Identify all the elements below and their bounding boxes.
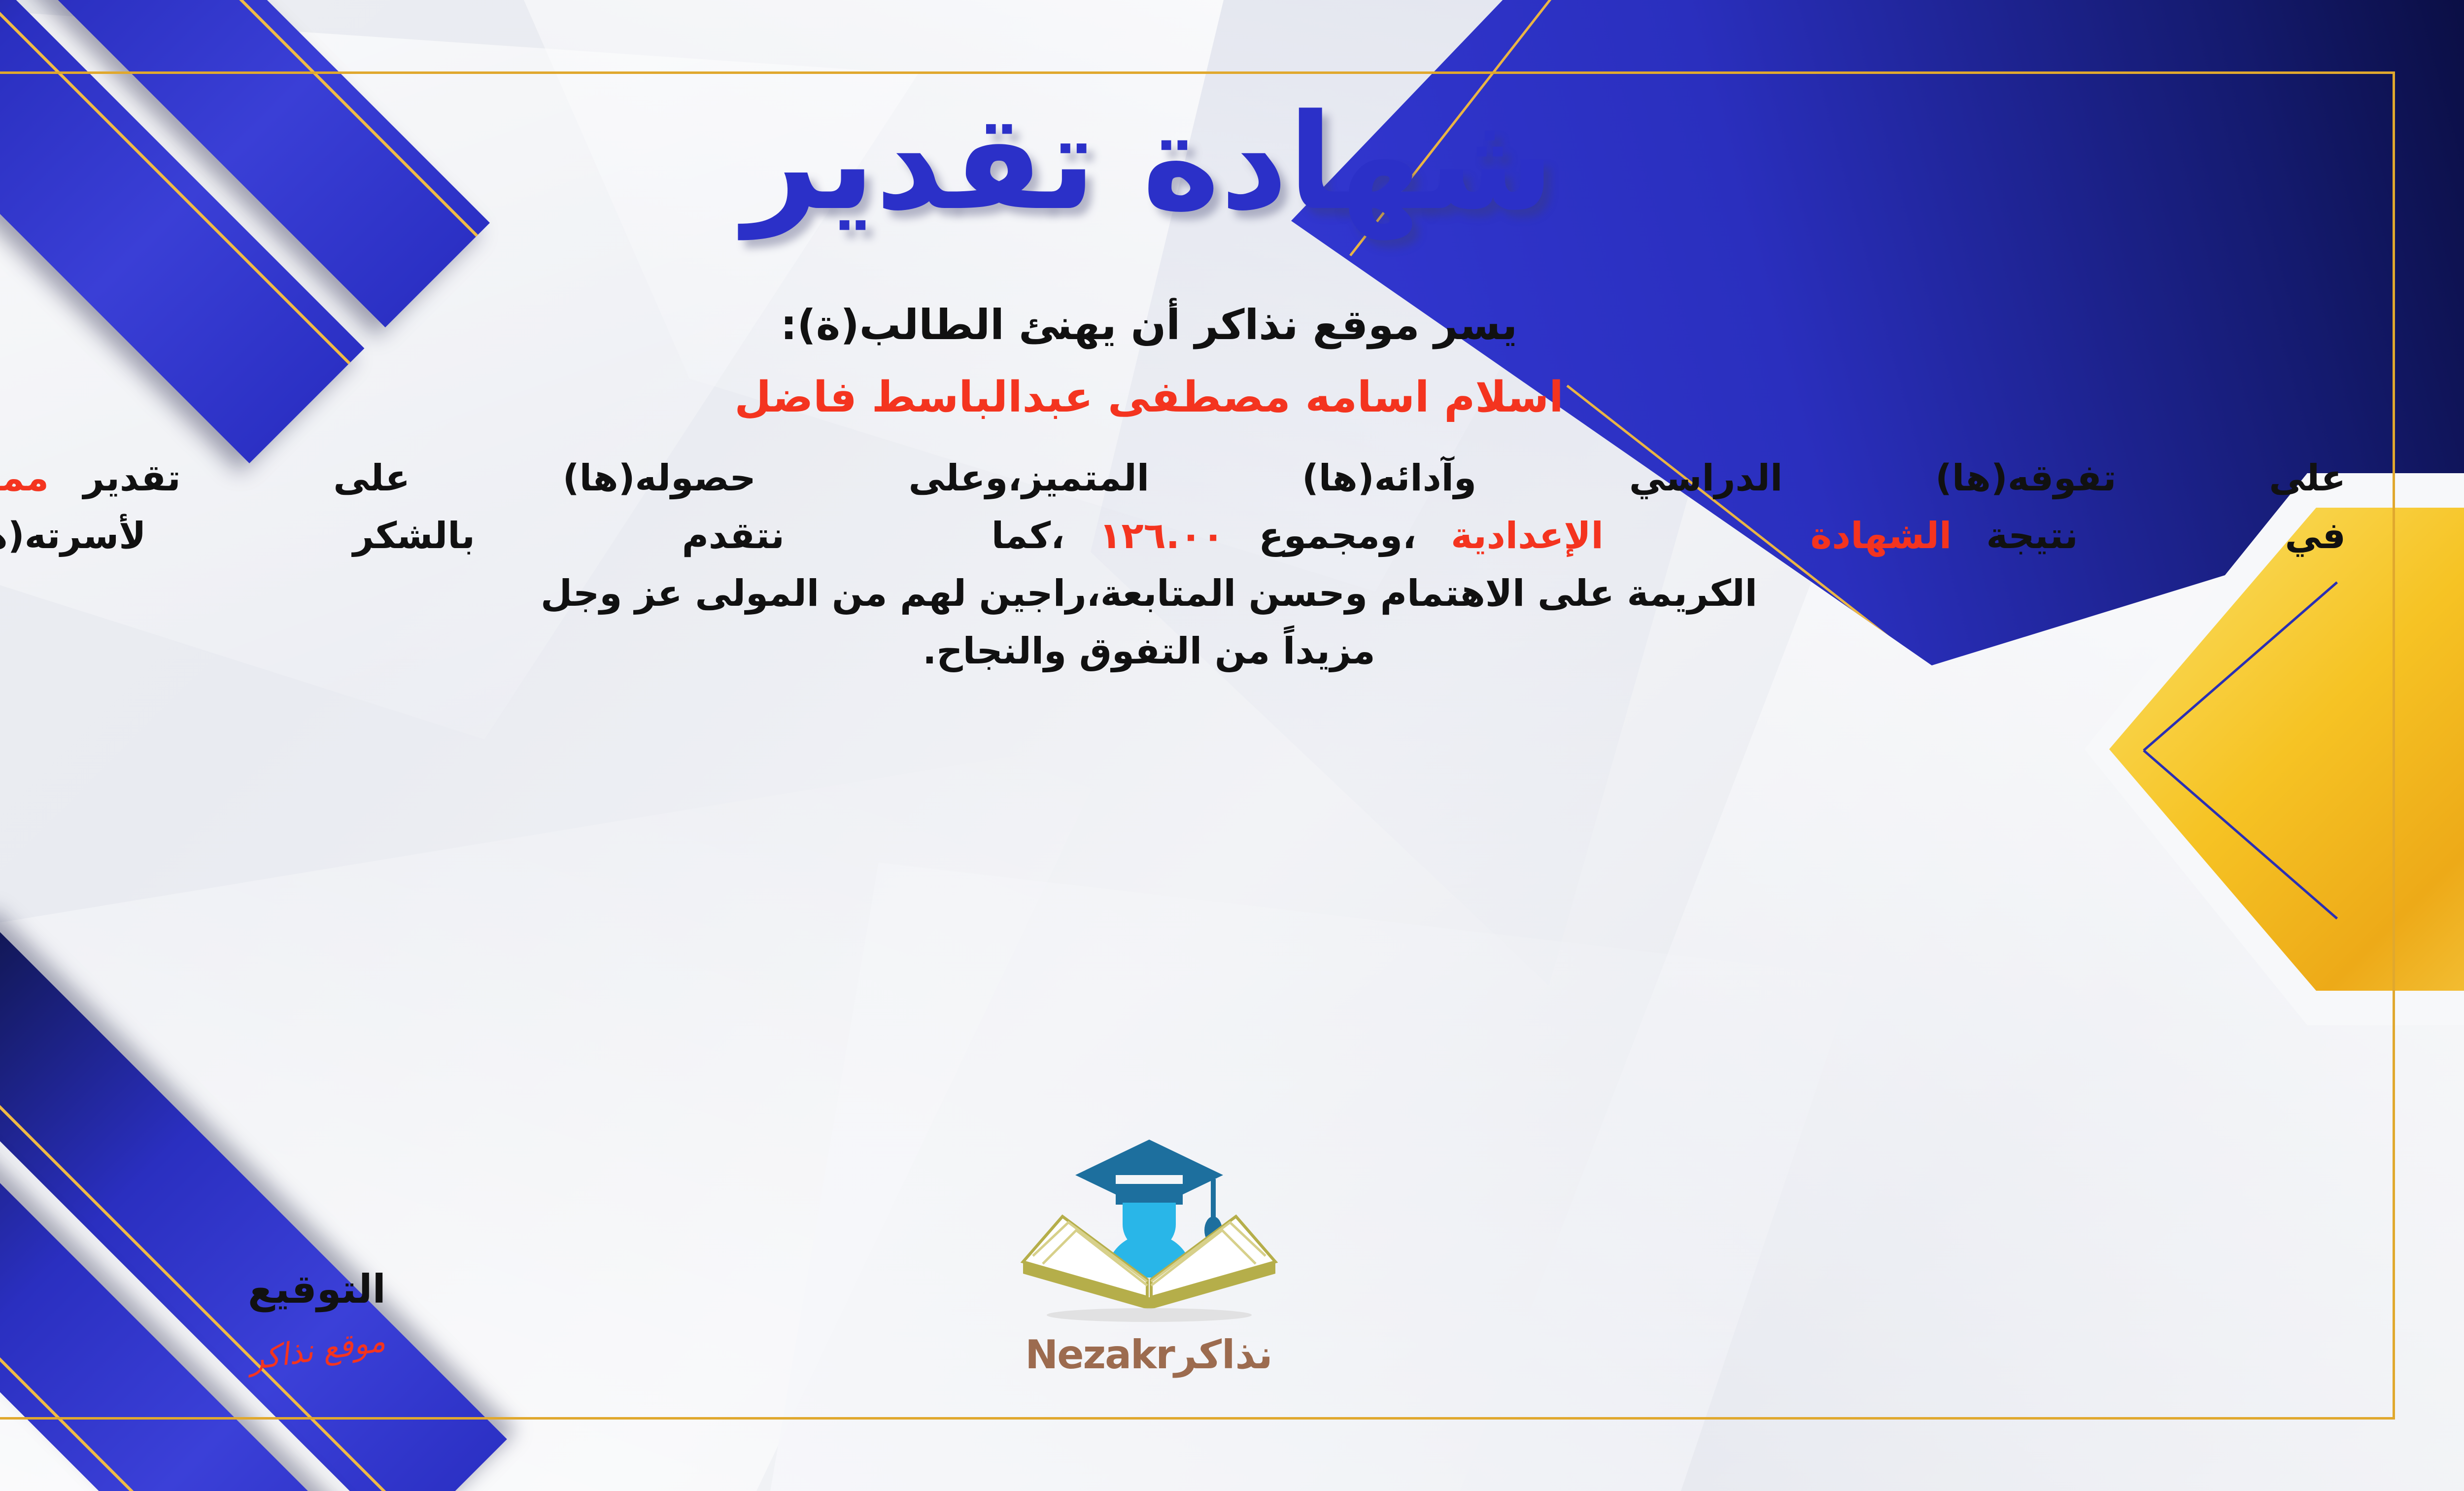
citation-line-1: على تفوقه(ها) الدراسي وآدائه(ها) المتميز… (0, 450, 2346, 507)
certificate-body: يسر موقع نذاكر أن يهنئ الطالب(ة): اسلام … (0, 301, 2375, 680)
student-name: اسلام اسامه مصطفى عبدالباسط فاضل (0, 373, 2375, 422)
certificate-canvas: شهادة تقدير يسر موقع نذاكر أن يهنئ الطال… (0, 0, 2464, 1491)
citation-text-4: ،كما نتقدم بالشكر لأسرته(ها) (0, 515, 1064, 557)
total-score-value: ١٢٦.٠٠ (1099, 515, 1224, 557)
brand-logo: نذاكرNezakr (962, 1132, 1336, 1378)
brand-latin: Nezakr (1025, 1332, 1174, 1378)
grade-value: ممتاز (0, 457, 49, 499)
signature-label: التوقيع (130, 1266, 504, 1312)
citation-text-2: في نتيجة (1986, 515, 2346, 557)
signature-handwriting: موقع نذاكر (246, 1322, 387, 1377)
certificate-content: شهادة تقدير يسر موقع نذاكر أن يهنئ الطال… (0, 89, 2375, 1402)
brand-wordmark: نذاكرNezakr (962, 1332, 1336, 1378)
graduate-book-icon (1011, 1132, 1287, 1329)
certificate-title: شهادة تقدير (0, 94, 2375, 232)
citation-paragraph: على تفوقه(ها) الدراسي وآدائه(ها) المتميز… (0, 450, 2375, 680)
citation-text-3: ،ومجموع (1259, 515, 1416, 557)
greeting-line: يسر موقع نذاكر أن يهنئ الطالب(ة): (0, 301, 2375, 349)
signature-block: التوقيع موقع نذاكر (130, 1266, 504, 1368)
brand-arabic: نذاكر (1174, 1332, 1273, 1378)
certificate-footer: التوقيع موقع نذاكر (0, 1082, 2375, 1397)
citation-line-2: في نتيجةالشهادة الإعدادية،ومجموع١٢٦.٠٠،ك… (0, 507, 2346, 565)
citation-text-1: على تفوقه(ها) الدراسي وآدائه(ها) المتميز… (83, 457, 2346, 499)
citation-line-4: مزيداً من التفوق والنجاح. (0, 623, 2346, 680)
certificate-type-value: الشهادة الإعدادية (1451, 515, 1951, 557)
citation-line-3: الكريمة على الاهتمام وحسن المتابعة،راجين… (0, 565, 2346, 623)
